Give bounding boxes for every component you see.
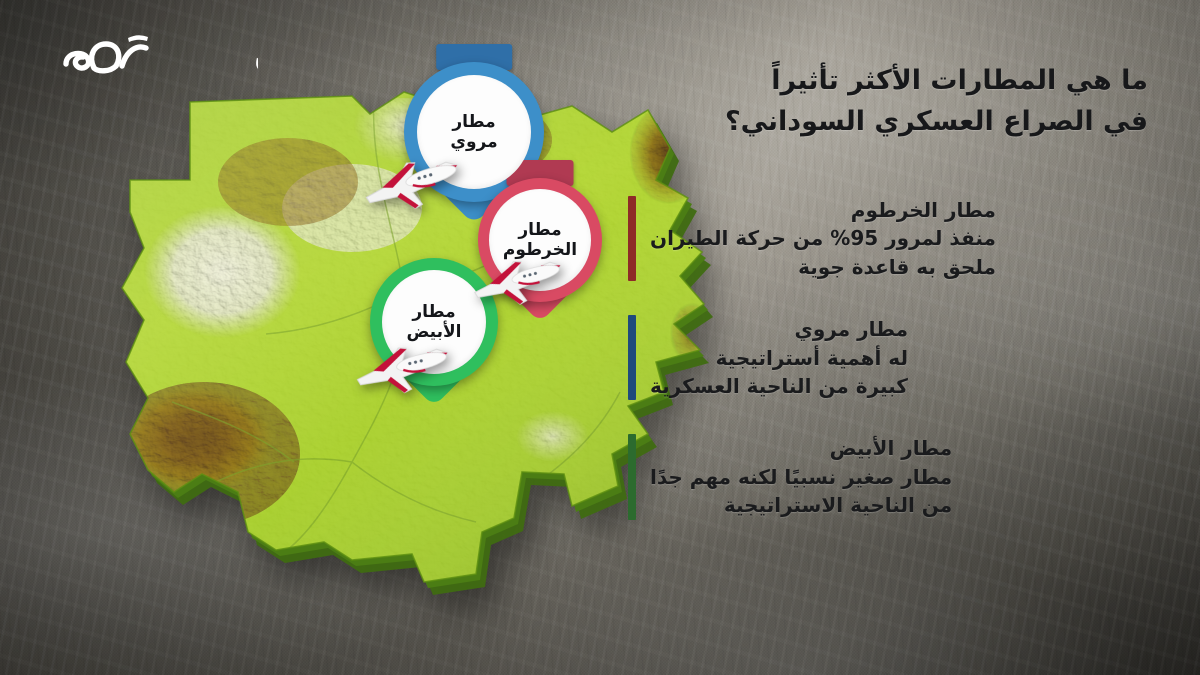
accent-bar-elobeid — [628, 434, 636, 519]
info-line3-merowe: كبيرة من الناحية العسكرية — [650, 372, 908, 400]
headline-line-2: في الصراع العسكري السوداني؟ — [628, 101, 1148, 142]
info-line3-khartoum: ملحق به قاعدة جوية — [650, 253, 996, 281]
info-block-khartoum: مطار الخرطوم منفذ لمرور 95% من حركة الطي… — [628, 196, 1148, 281]
infographic-canvas: أخبار الآن — [0, 0, 1200, 675]
pin-label-merowe-line2: مروي — [450, 132, 497, 152]
airport-info-list: مطار الخرطوم منفذ لمرور 95% من حركة الطي… — [628, 196, 1148, 554]
pin-label-khartoum-line1: مطار — [503, 220, 577, 240]
info-block-elobeid: مطار الأبيض مطار صغير نسبيًا لكنه مهم جد… — [628, 434, 1148, 519]
info-title-khartoum: مطار الخرطوم — [650, 196, 996, 224]
pin-disc-khartoum: مطار الخرطوم — [489, 189, 591, 291]
headline-line-1: ما هي المطارات الأكثر تأثيراً — [628, 60, 1148, 101]
pin-label-khartoum-line2: الخرطوم — [503, 240, 577, 260]
map-pin-elobeid[interactable]: مطار الأبيض — [370, 258, 498, 386]
pin-disc-merowe: مطار مروي — [417, 75, 532, 190]
page-title: ما هي المطارات الأكثر تأثيراً في الصراع … — [628, 60, 1148, 142]
info-block-merowe: مطار مروي له أهمية أستراتيجية كبيرة من ا… — [628, 315, 1148, 400]
info-title-elobeid: مطار الأبيض — [650, 434, 952, 462]
pin-label-elobeid-line1: مطار — [406, 302, 461, 322]
pin-label-merowe-line1: مطار — [450, 112, 497, 132]
info-line3-elobeid: من الناحية الاستراتيجية — [650, 491, 952, 519]
info-line2-merowe: له أهمية أستراتيجية — [650, 344, 908, 372]
info-title-merowe: مطار مروي — [650, 315, 908, 343]
pin-disc-elobeid: مطار الأبيض — [382, 270, 487, 375]
info-line2-elobeid: مطار صغير نسبيًا لكنه مهم جدًا — [650, 463, 952, 491]
accent-bar-merowe — [628, 315, 636, 400]
info-line2-khartoum: منفذ لمرور 95% من حركة الطيران — [650, 224, 996, 252]
pin-label-elobeid-line2: الأبيض — [406, 322, 461, 342]
accent-bar-khartoum — [628, 196, 636, 281]
